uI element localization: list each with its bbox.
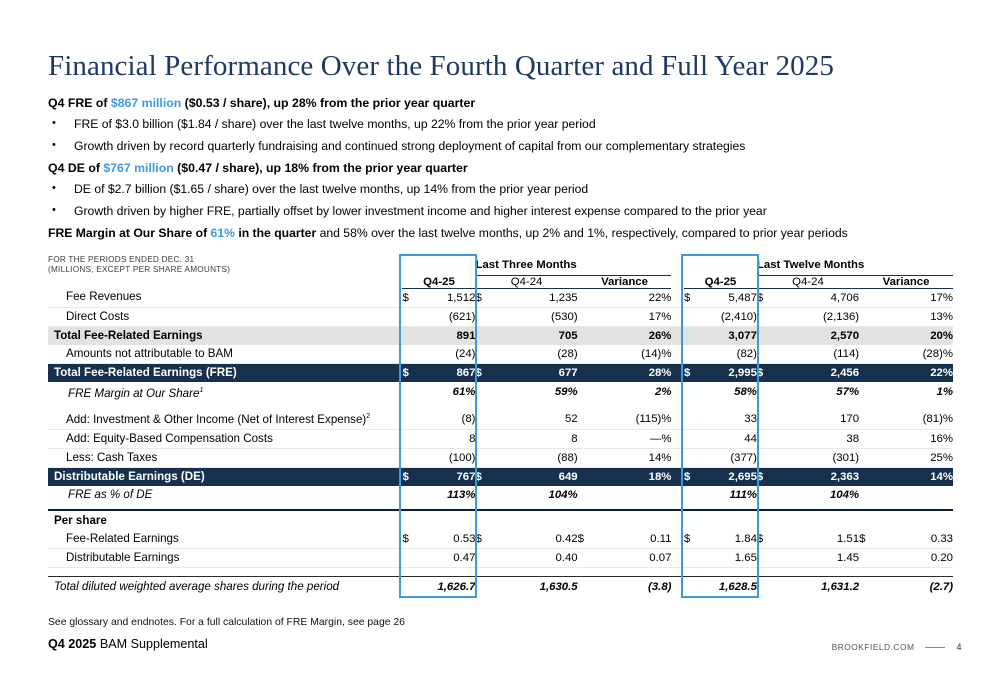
cell-currency: [684, 326, 702, 345]
per-share-header: Per share: [48, 512, 402, 530]
cell-gap: [671, 530, 684, 549]
cell-currency: $: [684, 468, 702, 487]
cell-q424-twelve: 57%: [780, 382, 859, 403]
fre-margin-rest: and 58% over the last twelve months, up …: [316, 226, 848, 240]
list-item: DE of $2.7 billion ($1.65 / share) over …: [48, 182, 968, 197]
cell-q425-three: 1,512: [420, 288, 475, 307]
cell-q425-twelve: 58%: [702, 382, 757, 403]
table-row: Total Fee-Related Earnings89170526%3,077…: [48, 326, 953, 345]
highlight-lead-suffix: ($0.53 / share), up 28% from the prior y…: [181, 96, 475, 110]
cell-currency: [684, 486, 702, 504]
cell-gap: [671, 363, 684, 382]
cell-currency: [578, 326, 601, 345]
per-share-header-row: Per share: [48, 512, 953, 530]
cell-q424-twelve: 1,631.2: [780, 578, 859, 596]
row-label: Total Fee-Related Earnings (FRE): [48, 363, 402, 382]
cell-variance-twelve: (81)%: [882, 408, 953, 429]
col-header-variance-three: Variance: [578, 275, 672, 288]
cell-q425-twelve: (82): [702, 345, 757, 364]
cell-currency: [859, 408, 882, 429]
cell-currency: [684, 578, 702, 596]
cell-currency: $: [684, 288, 702, 307]
cell-variance-twelve: [882, 486, 953, 504]
cell-q425-three: 1,626.7: [420, 578, 475, 596]
col-header-variance-twelve: Variance: [859, 275, 953, 288]
cell-gap: [671, 449, 684, 468]
cell-gap: [671, 408, 684, 429]
cell-currency: [402, 578, 420, 596]
table-row: Add: Equity-Based Compensation Costs88—%…: [48, 430, 953, 449]
row-label: Fee Revenues: [48, 288, 402, 307]
list-item: Growth driven by higher FRE, partially o…: [48, 204, 968, 219]
cell-q424-three: 59%: [498, 382, 577, 403]
cell-currency: $: [475, 468, 498, 487]
cell-q424-twelve: (2,136): [780, 307, 859, 326]
column-group-last-twelve-months: Last Twelve Months: [757, 255, 953, 275]
cell-q424-three: (530): [498, 307, 577, 326]
cell-q425-twelve: 3,077: [702, 326, 757, 345]
cell-variance-twelve: 0.33: [882, 530, 953, 549]
cell-currency: $: [475, 530, 498, 549]
cell-currency: [578, 408, 601, 429]
cell-currency: [757, 430, 780, 449]
cell-currency: [757, 382, 780, 403]
cell-q424-three: 0.40: [498, 549, 577, 568]
table-row: Fee-Related Earnings$0.53$0.42$0.11$1.84…: [48, 530, 953, 549]
cell-variance-three: (14)%: [601, 345, 672, 364]
cell-variance-three: [601, 486, 672, 504]
cell-q425-twelve: 111%: [702, 486, 757, 504]
cell-currency: [684, 345, 702, 364]
cell-currency: [859, 549, 882, 568]
table-row-total: Total diluted weighted average shares du…: [48, 578, 953, 596]
cell-q425-twelve: 5,487: [702, 288, 757, 307]
cell-variance-three: 22%: [601, 288, 672, 307]
cell-q424-twelve: (301): [780, 449, 859, 468]
cell-currency: [402, 430, 420, 449]
cell-q425-three: 891: [420, 326, 475, 345]
cell-currency: [402, 307, 420, 326]
cell-currency: $: [859, 530, 882, 549]
cell-currency: [684, 382, 702, 403]
footer-doc-name: BAM Supplemental: [96, 637, 207, 651]
cell-q425-three: (621): [420, 307, 475, 326]
cell-currency: [402, 345, 420, 364]
cell-q424-three: 52: [498, 408, 577, 429]
cell-q425-twelve: 44: [702, 430, 757, 449]
fre-margin-bold-tail: in the quarter: [235, 226, 316, 240]
cell-variance-three: —%: [601, 430, 672, 449]
table-meta-caption: FOR THE PERIODS ENDED DEC. 31 (MILLIONS,…: [48, 255, 402, 275]
cell-variance-twelve: (28)%: [882, 345, 953, 364]
cell-gap: [671, 326, 684, 345]
cell-q424-twelve: 4,706: [780, 288, 859, 307]
cell-currency: [475, 486, 498, 504]
cell-currency: [757, 449, 780, 468]
table-row: Amounts not attributable to BAM(24)(28)(…: [48, 345, 953, 364]
cell-q424-twelve: 104%: [780, 486, 859, 504]
cell-currency: $: [757, 288, 780, 307]
cell-gap: [671, 549, 684, 568]
cell-variance-three: 26%: [601, 326, 672, 345]
cell-currency: [859, 326, 882, 345]
cell-currency: [757, 578, 780, 596]
fre-margin-lead: FRE Margin at Our Share of: [48, 226, 211, 240]
financial-table: FOR THE PERIODS ENDED DEC. 31 (MILLIONS,…: [48, 255, 953, 596]
cell-currency: $: [757, 530, 780, 549]
cell-currency: $: [757, 468, 780, 487]
cell-q424-three: 677: [498, 363, 577, 382]
cell-currency: [402, 382, 420, 403]
cell-q424-twelve: (114): [780, 345, 859, 364]
cell-variance-twelve: 25%: [882, 449, 953, 468]
cell-currency: $: [475, 363, 498, 382]
cell-currency: [578, 345, 601, 364]
row-label: FRE as % of DE: [48, 486, 402, 504]
cell-variance-twelve: 0.20: [882, 549, 953, 568]
table-row: Distributable Earnings (DE)$767$64918%$2…: [48, 468, 953, 487]
cell-currency: [757, 549, 780, 568]
cell-currency: [402, 408, 420, 429]
cell-q425-three: 0.53: [420, 530, 475, 549]
cell-currency: [757, 307, 780, 326]
footer-document-title: Q4 2025 BAM Supplemental: [48, 637, 208, 651]
cell-q424-twelve: 2,363: [780, 468, 859, 487]
cell-currency: [402, 486, 420, 504]
cell-gap: [671, 486, 684, 504]
col-header-q425-twelve: Q4-25: [684, 275, 757, 288]
row-label: Distributable Earnings (DE): [48, 468, 402, 487]
cell-q424-three: 1,630.5: [498, 578, 577, 596]
cell-q424-three: 705: [498, 326, 577, 345]
highlight-lead-value: $767 million: [103, 161, 173, 175]
cell-currency: [475, 382, 498, 403]
page-title: Financial Performance Over the Fourth Qu…: [48, 50, 834, 83]
cell-q424-three: 649: [498, 468, 577, 487]
col-header-q424-twelve: Q4-24: [757, 275, 859, 288]
cell-currency: [578, 288, 601, 307]
cell-currency: [578, 382, 601, 403]
cell-currency: [859, 307, 882, 326]
table-column-header-row: Q4-25 Q4-24 Variance Q4-25 Q4-24 Varianc…: [48, 275, 953, 288]
row-label: Distributable Earnings: [48, 549, 402, 568]
cell-variance-twelve: 20%: [882, 326, 953, 345]
cell-currency: [684, 408, 702, 429]
highlight-lead-de: Q4 DE of $767 million ($0.47 / share), u…: [48, 161, 968, 176]
cell-q424-three: 1,235: [498, 288, 577, 307]
cell-q425-three: 61%: [420, 382, 475, 403]
cell-variance-three: 17%: [601, 307, 672, 326]
cell-q425-twelve: 33: [702, 408, 757, 429]
cell-variance-twelve: 17%: [882, 288, 953, 307]
cell-currency: $: [402, 530, 420, 549]
cell-q424-twelve: 2,456: [780, 363, 859, 382]
cell-currency: [859, 430, 882, 449]
cell-q424-three: (28): [498, 345, 577, 364]
cell-q425-three: (24): [420, 345, 475, 364]
cell-currency: [475, 578, 498, 596]
cell-q425-twelve: 2,695: [702, 468, 757, 487]
cell-q424-three: 0.42: [498, 530, 577, 549]
row-label: Add: Investment & Other Income (Net of I…: [48, 408, 402, 429]
cell-q425-three: (100): [420, 449, 475, 468]
cell-variance-twelve: 22%: [882, 363, 953, 382]
cell-currency: $: [475, 288, 498, 307]
cell-currency: [684, 449, 702, 468]
cell-gap: [671, 430, 684, 449]
row-label: Direct Costs: [48, 307, 402, 326]
cell-q424-twelve: 170: [780, 408, 859, 429]
cell-currency: [475, 549, 498, 568]
cell-currency: [475, 430, 498, 449]
cell-currency: [859, 345, 882, 364]
table-group-header-row: FOR THE PERIODS ENDED DEC. 31 (MILLIONS,…: [48, 255, 953, 275]
highlight-lead-value: $867 million: [111, 96, 181, 110]
cell-gap: [671, 382, 684, 403]
cell-q425-three: 767: [420, 468, 475, 487]
cell-q425-three: 113%: [420, 486, 475, 504]
table-row: Direct Costs(621)(530)17%(2,410)(2,136)1…: [48, 307, 953, 326]
cell-q425-twelve: 1.65: [702, 549, 757, 568]
table-meta-line2: (MILLIONS, EXCEPT PER SHARE AMOUNTS): [48, 265, 402, 275]
cell-currency: [475, 326, 498, 345]
table-row: Total Fee-Related Earnings (FRE)$867$677…: [48, 363, 953, 382]
table-row: FRE Margin at Our Share161%59%2%58%57%1%: [48, 382, 953, 403]
cell-currency: [684, 549, 702, 568]
row-label: Less: Cash Taxes: [48, 449, 402, 468]
cell-currency: [859, 288, 882, 307]
cell-currency: [402, 326, 420, 345]
cell-q425-three: (8): [420, 408, 475, 429]
cell-variance-three: 14%: [601, 449, 672, 468]
fre-margin-statement: FRE Margin at Our Share of 61% in the qu…: [48, 226, 968, 241]
col-header-q424-three: Q4-24: [475, 275, 577, 288]
cell-q425-twelve: 1.84: [702, 530, 757, 549]
cell-currency: [402, 549, 420, 568]
row-label: Amounts not attributable to BAM: [48, 345, 402, 364]
financial-table-wrap: FOR THE PERIODS ENDED DEC. 31 (MILLIONS,…: [48, 255, 953, 596]
cell-q424-three: (88): [498, 449, 577, 468]
highlight-lead-prefix: Q4 DE of: [48, 161, 103, 175]
list-item: Growth driven by record quarterly fundra…: [48, 139, 968, 154]
list-item: FRE of $3.0 billion ($1.84 / share) over…: [48, 117, 968, 132]
cell-q425-twelve: 2,995: [702, 363, 757, 382]
cell-currency: [757, 408, 780, 429]
cell-currency: [578, 486, 601, 504]
cell-q424-twelve: 2,570: [780, 326, 859, 345]
cell-currency: $: [757, 363, 780, 382]
cell-currency: [578, 578, 601, 596]
highlight-lead-suffix: ($0.47 / share), up 18% from the prior y…: [174, 161, 468, 175]
cell-variance-twelve: (2.7): [882, 578, 953, 596]
cell-currency: [475, 449, 498, 468]
cell-currency: [757, 486, 780, 504]
cell-q424-twelve: 38: [780, 430, 859, 449]
cell-currency: [859, 486, 882, 504]
cell-currency: [684, 307, 702, 326]
cell-variance-three: 0.07: [601, 549, 672, 568]
cell-q425-three: 8: [420, 430, 475, 449]
cell-variance-three: 2%: [601, 382, 672, 403]
cell-currency: $: [402, 288, 420, 307]
cell-variance-twelve: 14%: [882, 468, 953, 487]
cell-variance-three: 18%: [601, 468, 672, 487]
table-meta-line1: FOR THE PERIODS ENDED DEC. 31: [48, 255, 402, 265]
highlight-lead-fre: Q4 FRE of $867 million ($0.53 / share), …: [48, 96, 968, 111]
cell-variance-twelve: 1%: [882, 382, 953, 403]
cell-currency: [859, 578, 882, 596]
cell-currency: $: [402, 363, 420, 382]
cell-variance-three: (115)%: [601, 408, 672, 429]
cell-currency: $: [684, 530, 702, 549]
cell-q425-twelve: (2,410): [702, 307, 757, 326]
table-row: Add: Investment & Other Income (Net of I…: [48, 408, 953, 429]
row-label: Total Fee-Related Earnings: [48, 326, 402, 345]
cell-gap: [671, 578, 684, 596]
cell-currency: [578, 549, 601, 568]
table-row: FRE as % of DE113%104%111%104%: [48, 486, 953, 504]
cell-currency: [475, 307, 498, 326]
cell-currency: [578, 468, 601, 487]
cell-variance-three: (3.8): [601, 578, 672, 596]
cell-currency: [578, 430, 601, 449]
page-number: 4: [956, 642, 962, 652]
cell-gap: [671, 468, 684, 487]
table-row: Less: Cash Taxes(100)(88)14%(377)(301)25…: [48, 449, 953, 468]
cell-q424-three: 8: [498, 430, 577, 449]
brand-url: BROOKFIELD.COM: [832, 642, 915, 652]
highlights-block: Q4 FRE of $867 million ($0.53 / share), …: [48, 96, 968, 241]
cell-gap: [671, 345, 684, 364]
cell-currency: [475, 408, 498, 429]
cell-currency: [578, 363, 601, 382]
row-label: FRE Margin at Our Share1: [48, 382, 402, 403]
cell-variance-twelve: 16%: [882, 430, 953, 449]
cell-q425-twelve: (377): [702, 449, 757, 468]
cell-currency: [757, 326, 780, 345]
cell-currency: $: [402, 468, 420, 487]
cell-currency: [402, 449, 420, 468]
footnote-text: See glossary and endnotes. For a full ca…: [48, 617, 405, 628]
cell-currency: $: [684, 363, 702, 382]
cell-currency: [684, 430, 702, 449]
row-label: Add: Equity-Based Compensation Costs: [48, 430, 402, 449]
cell-q424-twelve: 1.51: [780, 530, 859, 549]
cell-variance-twelve: 13%: [882, 307, 953, 326]
cell-currency: [859, 382, 882, 403]
col-header-q425-three: Q4-25: [402, 275, 475, 288]
highlight-lead-prefix: Q4 FRE of: [48, 96, 111, 110]
cell-q425-three: 867: [420, 363, 475, 382]
cell-currency: $: [578, 530, 601, 549]
cell-q424-twelve: 1.45: [780, 549, 859, 568]
table-row: Distributable Earnings0.470.400.071.651.…: [48, 549, 953, 568]
cell-variance-three: 0.11: [601, 530, 672, 549]
table-row: Fee Revenues$1,512$1,23522%$5,487$4,7061…: [48, 288, 953, 307]
footer-period: Q4 2025: [48, 637, 96, 651]
cell-gap: [671, 288, 684, 307]
footer-brand-block: BROOKFIELD.COM 4: [832, 642, 962, 652]
cell-currency: [859, 449, 882, 468]
cell-currency: [578, 449, 601, 468]
cell-currency: [859, 468, 882, 487]
cell-currency: [578, 307, 601, 326]
cell-q425-three: 0.47: [420, 549, 475, 568]
fre-margin-value: 61%: [211, 226, 235, 240]
cell-currency: [757, 345, 780, 364]
cell-currency: [859, 363, 882, 382]
cell-gap: [671, 307, 684, 326]
slide-page: Financial Performance Over the Fourth Qu…: [0, 0, 1000, 685]
divider-dash: [925, 647, 945, 648]
cell-variance-three: 28%: [601, 363, 672, 382]
cell-q425-twelve: 1,628.5: [702, 578, 757, 596]
row-label: Total diluted weighted average shares du…: [48, 578, 402, 596]
column-group-last-three-months: Last Three Months: [475, 255, 671, 275]
cell-currency: [475, 345, 498, 364]
cell-q424-three: 104%: [498, 486, 577, 504]
row-label: Fee-Related Earnings: [48, 530, 402, 549]
